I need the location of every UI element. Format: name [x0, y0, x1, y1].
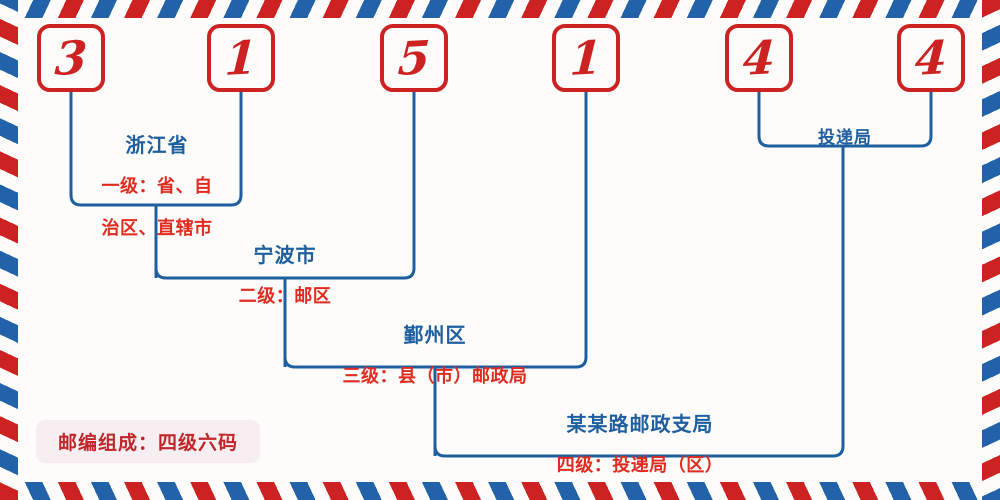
postcode-digit-box-4[interactable]: 1 — [552, 24, 620, 92]
postcode-digit-box-5[interactable]: 4 — [725, 24, 793, 92]
delivery-office-text: 投递局 — [818, 128, 872, 148]
postcode-digit-box-6[interactable]: 4 — [897, 24, 965, 92]
level-1-name: 浙江省 — [84, 133, 230, 157]
postcode-digit-2: 1 — [224, 34, 259, 82]
postcode-composition-badge: 邮编组成：四级六码 — [36, 420, 260, 463]
level-4-name: 某某路邮政支局 — [505, 412, 775, 436]
postcode-diagram: 3 1 5 1 4 4 浙江省 一级：省、自 治区、直辖市 宁波市 二级：邮区 … — [0, 0, 1000, 500]
postcode-digit-1: 3 — [54, 34, 89, 82]
postcode-digit-box-1[interactable]: 3 — [37, 24, 105, 92]
postcode-digit-box-2[interactable]: 1 — [207, 24, 275, 92]
postcode-digit-6: 4 — [914, 34, 949, 82]
airmail-border-left — [0, 0, 18, 500]
postcode-digit-5: 4 — [742, 34, 777, 82]
postcode-digit-4: 1 — [569, 34, 604, 82]
airmail-border-bottom — [0, 482, 1000, 500]
level-4-label: 某某路邮政支局 四级：投递局（区） — [505, 392, 775, 497]
postcode-digit-3: 5 — [397, 34, 432, 82]
airmail-border-right — [982, 0, 1000, 500]
level-2-name: 宁波市 — [195, 243, 375, 267]
level-3-name: 鄞州区 — [300, 323, 570, 347]
postcode-digit-box-3[interactable]: 5 — [380, 24, 448, 92]
airmail-border-top — [0, 0, 1000, 18]
level-1-desc-line-1: 一级：省、自 — [84, 176, 230, 198]
level-4-desc-line-1: 四级：投递局（区） — [505, 455, 775, 477]
level-3-desc-line-1: 三级：县（市）邮政局 — [300, 366, 570, 388]
delivery-office-label: 投递局 — [770, 108, 920, 148]
